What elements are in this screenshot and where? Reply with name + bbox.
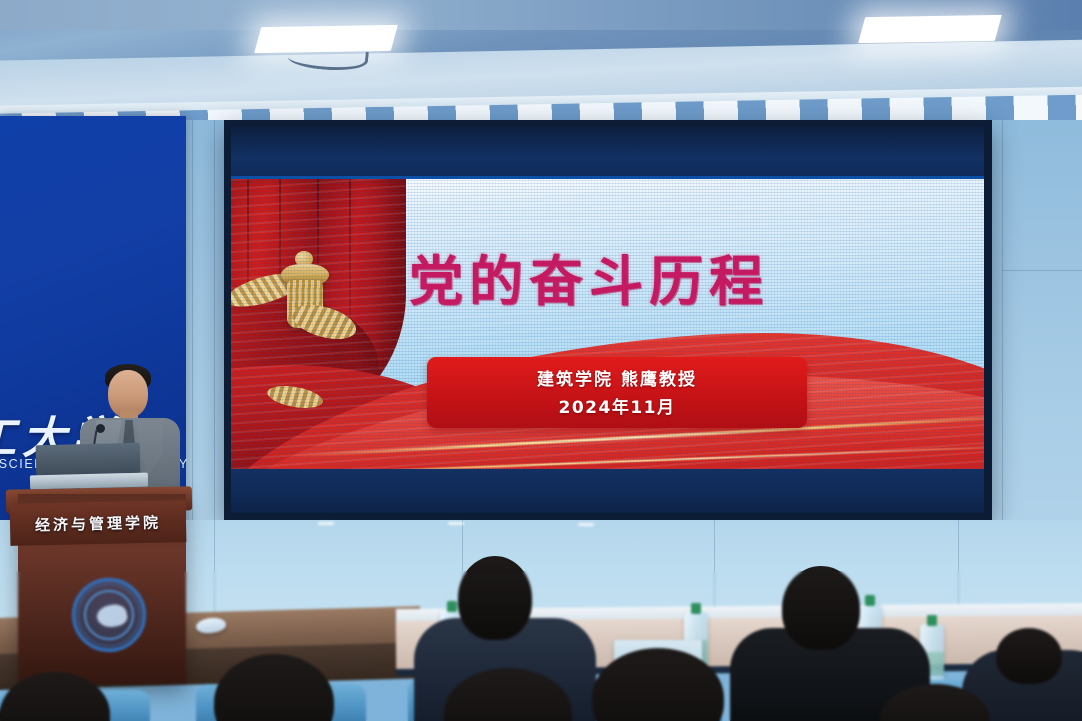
slide-date: 2024年11月	[427, 393, 807, 418]
slide-presenter: 建筑学院 熊鹰教授	[427, 365, 807, 390]
slide-subtitle-box: 建筑学院 熊鹰教授 2024年11月	[427, 357, 807, 428]
screen-letterbox-bottom	[231, 469, 984, 513]
microphone-head-icon	[96, 424, 105, 433]
lecture-hall-scene: 理工大学 ITY OF SCIENCE & TECHNOLOGY	[0, 0, 1082, 721]
university-emblem-icon	[72, 578, 146, 652]
ceiling-panel-light-right	[858, 15, 1002, 43]
screen-reflection	[318, 522, 334, 525]
wall-seam	[214, 120, 215, 540]
wall-seam	[192, 120, 193, 550]
attendee-head	[996, 628, 1062, 684]
attendee-head	[458, 556, 532, 640]
screen-letterbox-top	[231, 127, 984, 179]
attendee-head	[782, 566, 860, 650]
presentation-slide: 党的奋斗历程 建筑学院 熊鹰教授 2024年11月	[231, 179, 984, 469]
laptop-screen[interactable]	[36, 443, 141, 478]
podium-nameplate-label: 经济与管理学院	[35, 511, 161, 535]
podium-nameplate: 经济与管理学院	[10, 500, 187, 546]
led-display[interactable]: 党的奋斗历程 建筑学院 熊鹰教授 2024年11月	[231, 127, 984, 513]
screen-reflection	[448, 522, 464, 525]
wall-seam	[1002, 270, 1082, 271]
screen-reflection	[578, 523, 594, 526]
led-display-frame: 党的奋斗历程 建筑学院 熊鹰教授 2024年11月	[224, 120, 992, 520]
slide-title: 党的奋斗历程	[409, 237, 769, 316]
